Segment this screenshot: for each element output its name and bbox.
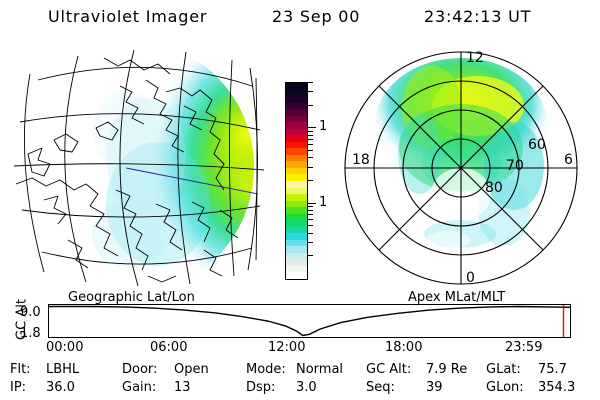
polar-dial-image: 12 18 6 0 60 70 80 — [328, 44, 594, 292]
status-value: 36.0 — [46, 380, 75, 395]
globe-image — [8, 44, 266, 290]
colorbar-minor-tick — [308, 157, 313, 158]
colorbar-minor-tick — [308, 233, 313, 234]
status-key: Dsp: — [246, 380, 275, 395]
orbit-xtick-label: 18:00 — [385, 340, 422, 355]
status-value: 13 — [174, 380, 191, 395]
colorbar-minor-tick — [308, 150, 313, 151]
colorbar-minor-tick — [308, 255, 313, 256]
orbit-xtick-label: 00:00 — [46, 340, 83, 355]
status-key: Gain: — [122, 380, 156, 395]
uvi-image-viewer: Ultraviolet Imager 23 Sep 00 23:42:13 UT — [0, 0, 600, 400]
colorbar-minor-tick — [308, 131, 313, 132]
header-bar: Ultraviolet Imager 23 Sep 00 23:42:13 UT — [0, 0, 600, 36]
colorbar-minor-tick — [308, 82, 313, 83]
instrument-title: Ultraviolet Imager — [48, 7, 207, 26]
colorbar-minor-tick — [308, 219, 313, 220]
orbit-altitude-section: Geographic Lat/Lon Apex MLat/MLT GC Alt … — [0, 290, 600, 352]
status-row-secondary: IP:36.0Gain:13Dsp:3.0Seq:39GLon:354.3 — [0, 380, 600, 398]
status-key: Seq: — [366, 380, 395, 395]
status-key: Mode: — [246, 362, 286, 377]
status-key: Door: — [122, 362, 157, 377]
colorbar-minor-tick — [308, 91, 313, 92]
status-value: 75.7 — [538, 362, 567, 377]
status-key: GLon: — [486, 380, 524, 395]
status-key: GLat: — [486, 362, 521, 377]
mlat-label-60: 60 — [528, 137, 546, 153]
orbit-xtick-label: 23:59 — [505, 340, 542, 355]
colorbar-minor-tick — [308, 167, 313, 168]
colorbar-minor-tick — [308, 105, 313, 106]
colorbar-minor-tick — [308, 206, 313, 207]
status-value: 3.0 — [296, 380, 317, 395]
colorbar-minor-tick — [308, 242, 313, 243]
orbit-ytick-high: 9.0 — [20, 305, 41, 320]
geographic-globe-panel[interactable] — [8, 44, 266, 290]
polar-panel-title: Apex MLat/MLT — [408, 290, 505, 305]
status-value: 7.9 Re — [426, 362, 467, 377]
status-value: Open — [174, 362, 209, 377]
globe-panel-title: Geographic Lat/Lon — [68, 290, 195, 305]
colorbar-minor-tick — [308, 214, 313, 215]
mlt-label-6: 6 — [564, 152, 573, 168]
gc-altitude-curve — [49, 307, 570, 336]
colorbar-major-tick — [308, 203, 316, 204]
orbit-ytick-low: 1.8 — [20, 326, 41, 341]
mlt-label-12: 12 — [466, 50, 484, 66]
mlat-label-80: 80 — [485, 180, 503, 196]
colorbar-major-tick — [308, 127, 316, 128]
colorbar-minor-tick — [308, 210, 313, 211]
observation-time: 23:42:13 UT — [424, 7, 531, 26]
orbit-xtick-label: 06:00 — [150, 340, 187, 355]
status-key: Flt: — [10, 362, 31, 377]
orbit-altitude-plot[interactable] — [48, 304, 571, 338]
status-key: GC Alt: — [366, 362, 411, 377]
status-value: Normal — [296, 362, 343, 377]
status-block: Flt:LBHLDoor:OpenMode:NormalGC Alt:7.9 R… — [0, 360, 600, 400]
mlt-label-18: 18 — [352, 152, 370, 168]
mlt-label-0: 0 — [466, 270, 475, 286]
mlt-spokes — [345, 52, 577, 284]
observation-date: 23 Sep 00 — [272, 7, 360, 26]
status-row-primary: Flt:LBHLDoor:OpenMode:NormalGC Alt:7.9 R… — [0, 362, 600, 380]
colorbar-minor-tick — [308, 180, 313, 181]
colorbar-band — [286, 272, 307, 279]
colorbar-minor-tick — [308, 139, 313, 140]
apex-polar-panel[interactable]: 12 18 6 0 60 70 80 — [328, 44, 594, 292]
mlat-label-70: 70 — [506, 158, 524, 174]
orbit-xtick-label: 12:00 — [268, 340, 305, 355]
orbit-curve-svg — [49, 305, 570, 337]
status-value: 354.3 — [538, 380, 575, 395]
colorbar-minor-tick — [308, 144, 313, 145]
colorbar-panel: photon cm-2s-1 10010 — [258, 46, 328, 294]
colorbar-minor-tick — [308, 135, 313, 136]
status-value: LBHL — [46, 362, 79, 377]
colorbar-minor-tick — [308, 225, 313, 226]
status-key: IP: — [10, 380, 26, 395]
colorbar-gradient[interactable] — [285, 82, 308, 280]
status-value: 39 — [426, 380, 443, 395]
